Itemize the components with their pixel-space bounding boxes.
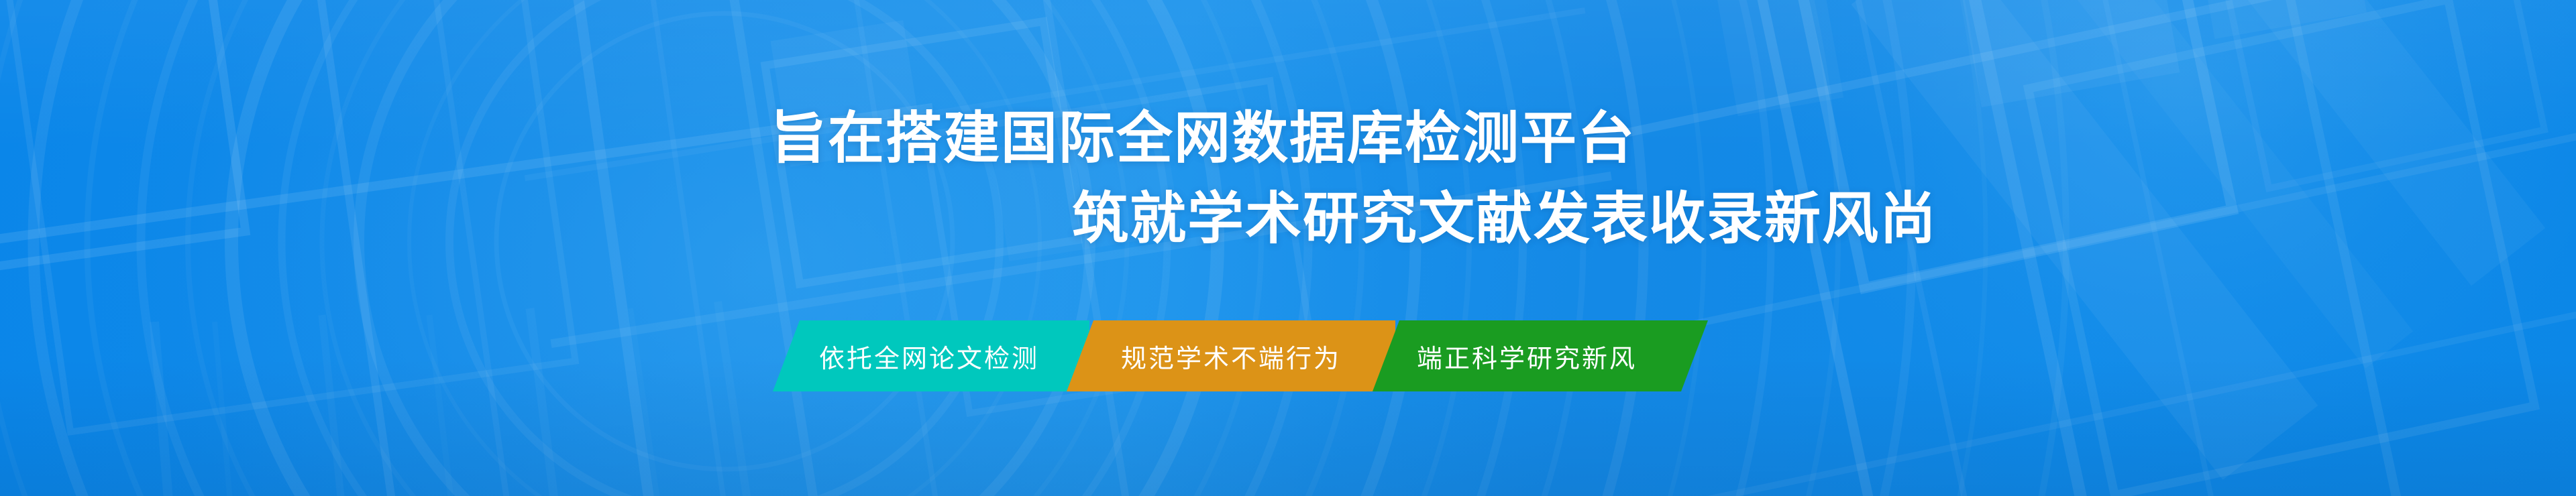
headline-line-1: 旨在搭建国际全网数据库检测平台 bbox=[770, 101, 2576, 176]
feature-tag-2[interactable]: 规范学术不端行为 bbox=[1067, 320, 1395, 391]
hero-banner: 旨在搭建国际全网数据库检测平台 筑就学术研究文献发表收录新风尚 依托全网论文检测… bbox=[0, 0, 2576, 496]
feature-tag-2-label: 规范学术不端行为 bbox=[1121, 338, 1341, 375]
feature-tag-1[interactable]: 依托全网论文检测 bbox=[773, 320, 1089, 391]
headline-block: 旨在搭建国际全网数据库检测平台 筑就学术研究文献发表收录新风尚 bbox=[0, 101, 2576, 256]
feature-tag-3[interactable]: 端正科学研究新风 bbox=[1373, 320, 1708, 391]
headline-line-2: 筑就学术研究文献发表收录新风尚 bbox=[1072, 181, 2576, 256]
feature-tag-3-label: 端正科学研究新风 bbox=[1417, 338, 1637, 375]
feature-tag-1-label: 依托全网论文检测 bbox=[819, 338, 1039, 375]
feature-tag-band: 依托全网论文检测 规范学术不端行为 端正科学研究新风 bbox=[773, 320, 1708, 391]
